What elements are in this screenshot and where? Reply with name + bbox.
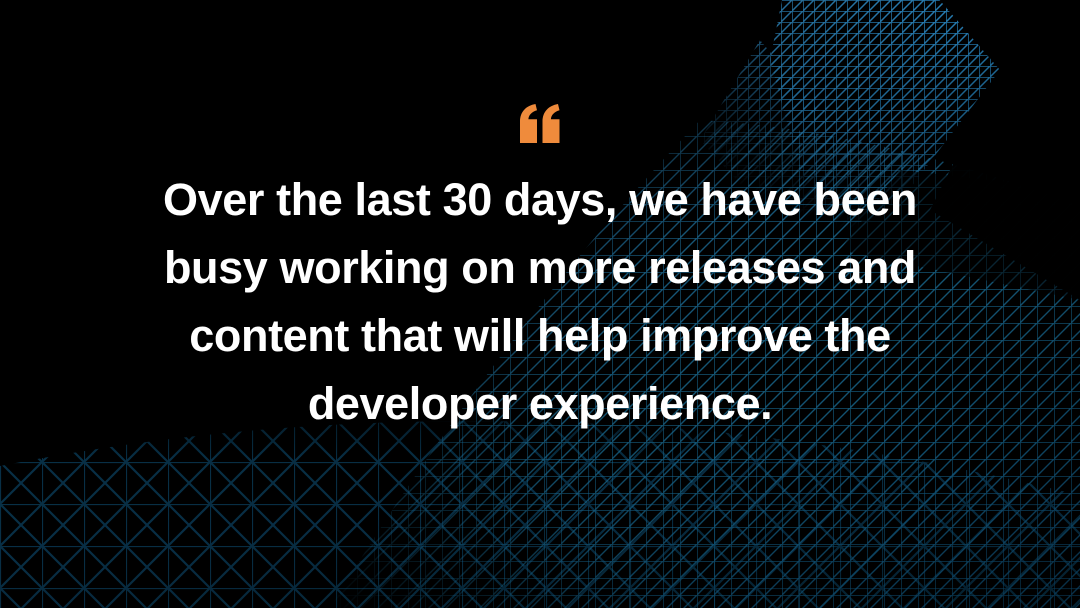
- quote-content: Over the last 30 days, we have been busy…: [0, 0, 1080, 608]
- quote-card: Over the last 30 days, we have been busy…: [0, 0, 1080, 608]
- quote-text: Over the last 30 days, we have been busy…: [140, 166, 940, 438]
- quotation-mark-icon: [517, 104, 563, 144]
